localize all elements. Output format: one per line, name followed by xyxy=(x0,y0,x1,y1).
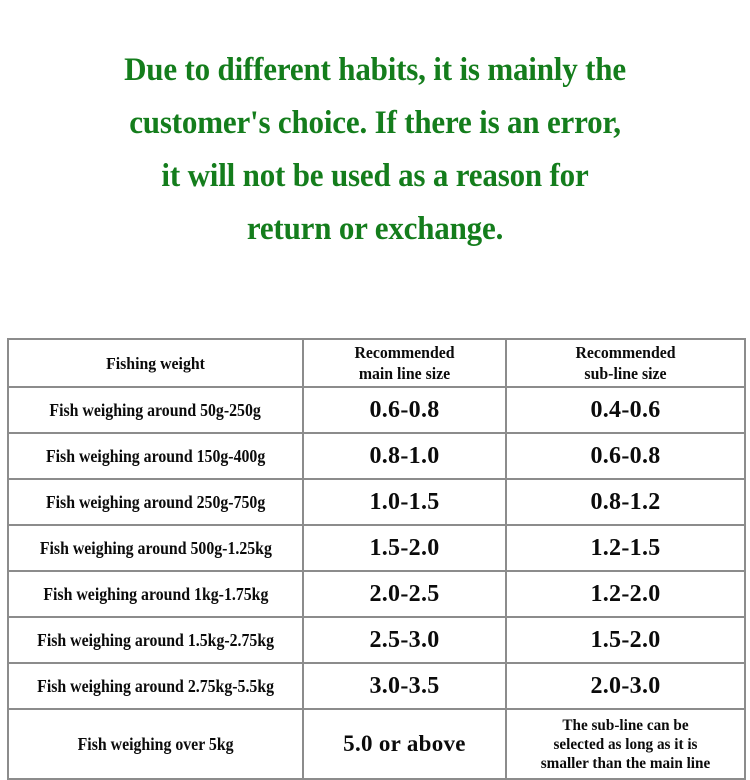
cell-fishing-weight: Fish weighing around 50g-250g xyxy=(8,387,303,433)
line-sizing-table: Fishing weight Recommended main line siz… xyxy=(7,338,746,780)
column-header-main-line-size-line-1: Recommended xyxy=(314,342,495,363)
table-row: Fish weighing around 50g-250g 0.6-0.8 0.… xyxy=(8,387,745,433)
cell-sub-line-size: 1.2-2.0 xyxy=(506,571,745,617)
cell-main-line-size: 1.0-1.5 xyxy=(303,479,506,525)
cell-fishing-weight: Fish weighing around 250g-750g xyxy=(8,479,303,525)
table-row: Fish weighing around 500g-1.25kg 1.5-2.0… xyxy=(8,525,745,571)
table-row: Fish weighing around 1.5kg-2.75kg 2.5-3.… xyxy=(8,617,745,663)
cell-main-line-size: 2.0-2.5 xyxy=(303,571,506,617)
column-header-main-line-size: Recommended main line size xyxy=(303,339,506,387)
cell-main-line-size: 0.6-0.8 xyxy=(303,387,506,433)
cell-sub-line-size: 1.5-2.0 xyxy=(506,617,745,663)
column-header-main-line-size-line-2: main line size xyxy=(314,363,495,384)
table-row: Fish weighing over 5kg 5.0 or above The … xyxy=(8,709,745,779)
cell-fishing-weight: Fish weighing around 1.5kg-2.75kg xyxy=(8,617,303,663)
cell-fishing-weight: Fish weighing around 2.75kg-5.5kg xyxy=(8,663,303,709)
notice-line-3: it will not be used as a reason for xyxy=(49,150,701,203)
column-header-fishing-weight: Fishing weight xyxy=(8,339,303,387)
cell-sub-line-size: The sub-line can be selected as long as … xyxy=(506,709,745,779)
column-header-fishing-weight-line-1: Fishing weight xyxy=(22,353,289,374)
notice-line-4: return or exchange. xyxy=(49,203,701,256)
cell-fishing-weight: Fish weighing around 1kg-1.75kg xyxy=(8,571,303,617)
cell-sub-line-size: 0.6-0.8 xyxy=(506,433,745,479)
column-header-sub-line-size-line-1: Recommended xyxy=(518,342,733,363)
cell-sub-line-note-line-2: selected as long as it is xyxy=(516,735,735,754)
cell-sub-line-note-line-3: smaller than the main line xyxy=(516,754,735,773)
notice-line-1: Due to different habits, it is mainly th… xyxy=(49,44,701,97)
table-row: Fish weighing around 150g-400g 0.8-1.0 0… xyxy=(8,433,745,479)
cell-sub-line-size: 1.2-1.5 xyxy=(506,525,745,571)
cell-sub-line-note-line-1: The sub-line can be xyxy=(516,716,735,735)
table-header-row: Fishing weight Recommended main line siz… xyxy=(8,339,745,387)
cell-fishing-weight: Fish weighing around 150g-400g xyxy=(8,433,303,479)
cell-main-line-size: 3.0-3.5 xyxy=(303,663,506,709)
cell-sub-line-size: 0.4-0.6 xyxy=(506,387,745,433)
cell-main-line-size: 2.5-3.0 xyxy=(303,617,506,663)
cell-fishing-weight: Fish weighing around 500g-1.25kg xyxy=(8,525,303,571)
table-row: Fish weighing around 2.75kg-5.5kg 3.0-3.… xyxy=(8,663,745,709)
notice-line-2: customer's choice. If there is an error, xyxy=(49,97,701,150)
cell-main-line-size: 1.5-2.0 xyxy=(303,525,506,571)
cell-main-line-size: 0.8-1.0 xyxy=(303,433,506,479)
line-sizing-table-container: Fishing weight Recommended main line siz… xyxy=(7,338,744,780)
column-header-sub-line-size: Recommended sub-line size xyxy=(506,339,745,387)
cell-sub-line-size: 0.8-1.2 xyxy=(506,479,745,525)
column-header-sub-line-size-line-2: sub-line size xyxy=(518,363,733,384)
table-row: Fish weighing around 1kg-1.75kg 2.0-2.5 … xyxy=(8,571,745,617)
product-info-page: Due to different habits, it is mainly th… xyxy=(0,0,750,750)
table-row: Fish weighing around 250g-750g 1.0-1.5 0… xyxy=(8,479,745,525)
cell-main-line-size: 5.0 or above xyxy=(303,709,506,779)
return-policy-notice: Due to different habits, it is mainly th… xyxy=(0,44,750,256)
cell-fishing-weight: Fish weighing over 5kg xyxy=(8,709,303,779)
cell-sub-line-size: 2.0-3.0 xyxy=(506,663,745,709)
